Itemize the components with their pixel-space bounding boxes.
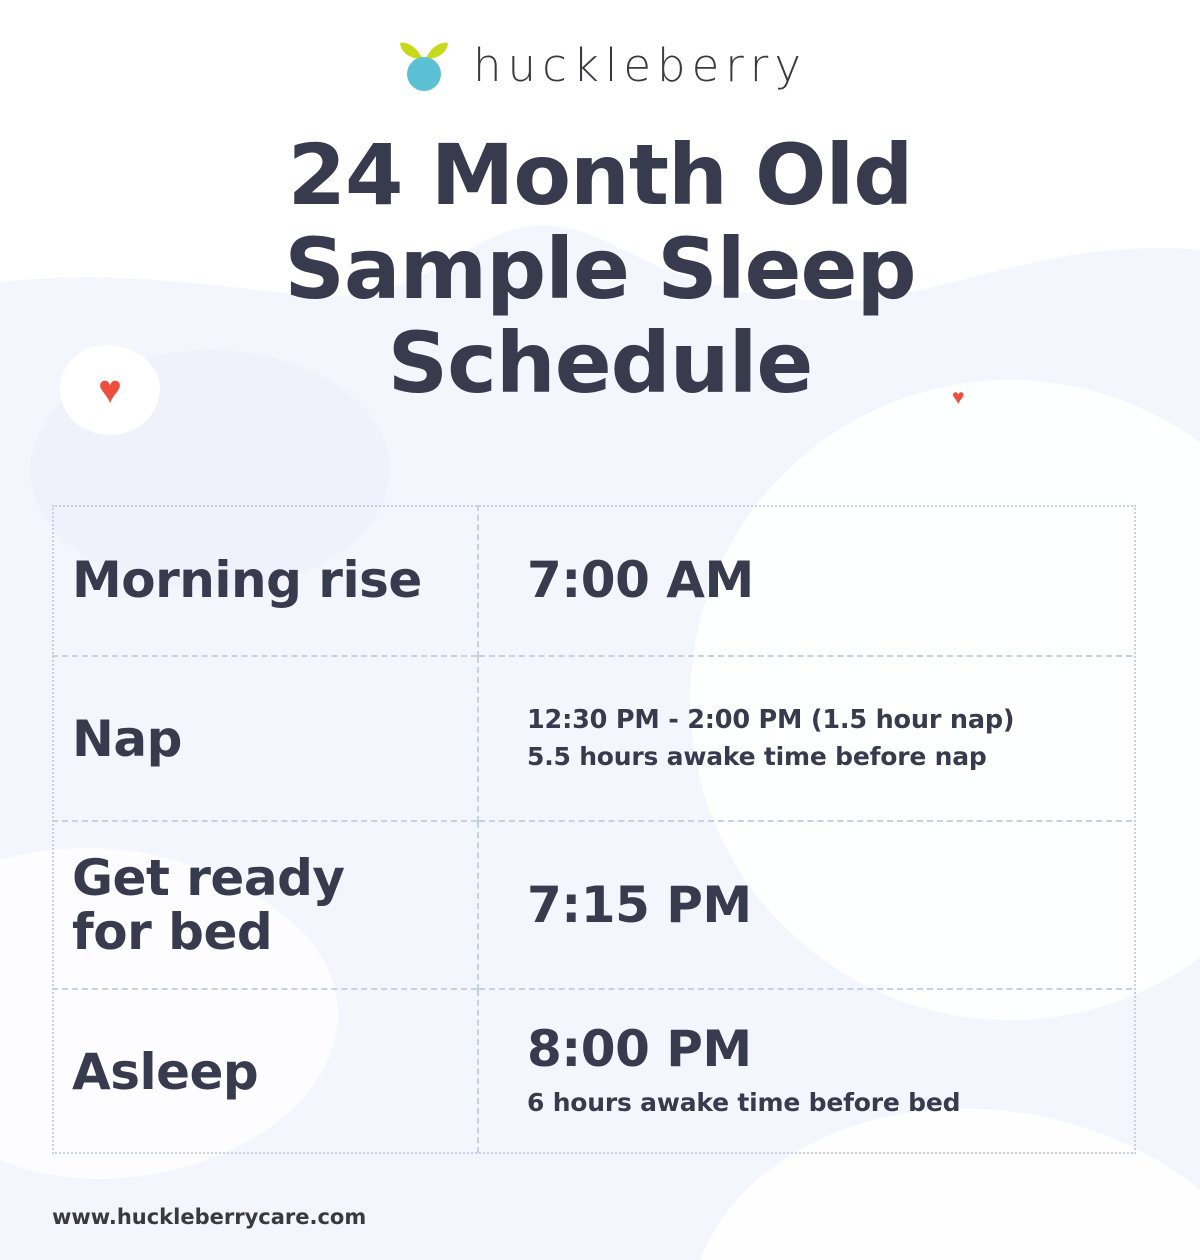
sleep-schedule-table: Morning rise 7:00 AM Nap 12:30 PM - bbox=[52, 505, 1132, 1153]
row-label-cell: Get ready for bed bbox=[52, 821, 478, 989]
table-row: Asleep 8:00 PM 6 hours awake time before… bbox=[52, 989, 1132, 1153]
row-label-cell: Morning rise bbox=[52, 505, 478, 656]
row-note: 12:30 PM - 2:00 PM (1.5 hour nap) bbox=[527, 702, 1116, 739]
row-value-cell: 8:00 PM 6 hours awake time before bed bbox=[478, 989, 1132, 1153]
row-label-cell: Asleep bbox=[52, 989, 478, 1153]
row-value: 7:15 PM bbox=[527, 877, 1116, 933]
huckleberry-berry-logo-icon bbox=[393, 34, 455, 96]
table-row: Nap 12:30 PM - 2:00 PM (1.5 hour nap) 5.… bbox=[52, 656, 1132, 821]
page-title: 24 Month Old Sample Sleep Schedule bbox=[150, 128, 1050, 410]
row-value: 7:00 AM bbox=[527, 552, 1116, 608]
table-row: Get ready for bed 7:15 PM bbox=[52, 821, 1132, 989]
row-label: Get ready for bed bbox=[72, 851, 465, 959]
page-title-line-1: 24 Month Old bbox=[150, 128, 1050, 222]
row-value-cell: 12:30 PM - 2:00 PM (1.5 hour nap) 5.5 ho… bbox=[478, 656, 1132, 821]
row-label: Nap bbox=[72, 712, 465, 766]
heart-icon: ♥ bbox=[60, 370, 160, 410]
page-title-line-3: Schedule bbox=[150, 316, 1050, 410]
row-note: 5.5 hours awake time before nap bbox=[527, 739, 1116, 775]
row-label-line-1: Get ready bbox=[72, 851, 465, 905]
row-label-cell: Nap bbox=[52, 656, 478, 821]
poster-canvas: huckleberry 24 Month Old Sample Sleep Sc… bbox=[0, 0, 1200, 1260]
row-value-cell: 7:00 AM bbox=[478, 505, 1132, 656]
heart-decoration-large: ♥ bbox=[60, 345, 160, 435]
row-value-cell: 7:15 PM bbox=[478, 821, 1132, 989]
row-label-line-2: for bed bbox=[72, 905, 465, 959]
page-title-line-2: Sample Sleep bbox=[150, 222, 1050, 316]
row-label: Asleep bbox=[72, 1045, 465, 1099]
row-label: Morning rise bbox=[72, 553, 465, 607]
brand-wordmark: huckleberry bbox=[473, 43, 807, 88]
footer-website-url[interactable]: www.huckleberrycare.com bbox=[52, 1205, 366, 1229]
brand-header: huckleberry bbox=[0, 32, 1200, 98]
row-note: 6 hours awake time before bed bbox=[527, 1085, 1116, 1121]
schedule-table-container: Morning rise 7:00 AM Nap 12:30 PM - bbox=[52, 505, 1132, 1153]
table-row: Morning rise 7:00 AM bbox=[52, 505, 1132, 656]
row-value: 8:00 PM bbox=[527, 1021, 1116, 1077]
